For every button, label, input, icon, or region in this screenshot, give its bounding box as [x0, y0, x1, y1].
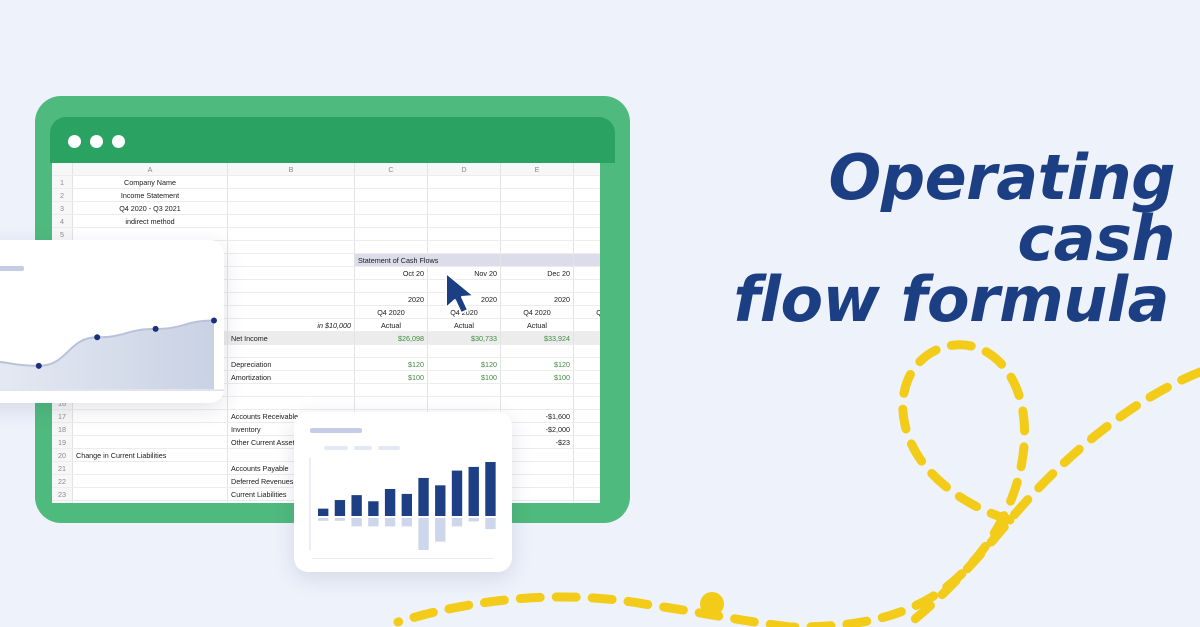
page-title-line-1: Operating cash — [655, 148, 1175, 270]
cell-F24[interactable] — [574, 501, 601, 504]
cell-E15[interactable] — [501, 384, 574, 397]
spreadsheet-row[interactable]: 3Q4 2020 - Q3 2021 — [52, 202, 600, 215]
legend-placeholder-3 — [378, 446, 400, 450]
cell-C5[interactable] — [355, 228, 428, 241]
cell-F4[interactable] — [574, 215, 601, 228]
bar-secondary-0 — [318, 518, 328, 521]
bar-secondary-7 — [435, 518, 445, 542]
cell-month-3[interactable]: Jan 21 — [574, 267, 601, 280]
column-header-c[interactable]: C — [355, 163, 428, 176]
cell-C16[interactable] — [355, 397, 428, 410]
cell-E1[interactable] — [501, 176, 574, 189]
cell-F11[interactable]: $37,141 — [574, 332, 601, 345]
cell-section-title[interactable]: Statement of Cash Flows — [355, 254, 428, 267]
cell-C3[interactable] — [355, 202, 428, 215]
column-header-corner[interactable] — [52, 163, 73, 176]
cell-E17[interactable]: -$1,600 — [501, 410, 574, 423]
row-header-2[interactable]: 2 — [52, 189, 73, 202]
cell-F19[interactable]: -$25 — [574, 436, 601, 449]
cell-C4[interactable] — [355, 215, 428, 228]
legend-placeholder-2 — [354, 446, 372, 450]
cell-D7[interactable] — [428, 254, 501, 267]
cell-C1[interactable] — [355, 176, 428, 189]
cell-E16[interactable] — [501, 397, 574, 410]
cell-D6[interactable] — [428, 241, 501, 254]
cell-F12[interactable] — [574, 345, 601, 358]
cell-D14[interactable]: $100 — [428, 371, 501, 384]
chart-title-placeholder — [0, 266, 24, 271]
chart-baseline — [0, 390, 224, 391]
row-header-3[interactable]: 3 — [52, 202, 73, 215]
bar-secondary-9 — [469, 518, 479, 521]
column-header-d[interactable]: D — [428, 163, 501, 176]
cell-month-2[interactable]: Dec 20 — [501, 267, 574, 280]
bar-primary-3 — [368, 501, 378, 516]
cell-F20[interactable] — [574, 449, 601, 462]
window-dot-yellow[interactable] — [90, 135, 103, 148]
cell-F5[interactable] — [574, 228, 601, 241]
cell-F13[interactable]: $120 — [574, 358, 601, 371]
cell-F7[interactable] — [574, 254, 601, 267]
bar-primary-0 — [318, 509, 328, 516]
cell-year-2[interactable]: 2020 — [501, 293, 574, 306]
line-chart-card[interactable] — [0, 240, 224, 403]
column-header-a[interactable]: A — [73, 163, 228, 176]
row-header-19[interactable]: 19 — [52, 436, 73, 449]
bar-chart — [304, 454, 504, 554]
bar-primary-10 — [485, 462, 495, 516]
bar-secondary-5 — [402, 518, 412, 526]
cell-B11[interactable]: Net Income — [228, 332, 355, 345]
cell-basis-D[interactable]: Actual — [428, 319, 501, 332]
cell-basis-C[interactable]: Actual — [355, 319, 428, 332]
cell-C6[interactable] — [355, 241, 428, 254]
cell-A3[interactable]: Q4 2020 - Q3 2021 — [73, 202, 228, 215]
row-header-24[interactable]: 24 — [52, 501, 73, 504]
row-header-4[interactable]: 4 — [52, 215, 73, 228]
cell-quarter-C[interactable]: Q4 2020 — [355, 306, 428, 319]
column-header-row[interactable]: ABCDEFG — [52, 163, 600, 176]
cell-E5[interactable] — [501, 228, 574, 241]
cell-units-label[interactable]: in $10,000 — [228, 319, 355, 332]
bar-primary-2 — [351, 495, 361, 516]
cell-quarter-E[interactable]: Q4 2020 — [501, 306, 574, 319]
bar-secondary-3 — [368, 518, 378, 526]
column-header-b[interactable]: B — [228, 163, 355, 176]
cell-F2[interactable] — [574, 189, 601, 202]
data-point-2 — [36, 363, 42, 369]
bar-secondary-1 — [335, 518, 345, 521]
row-header-1[interactable]: 1 — [52, 176, 73, 189]
data-point-4 — [153, 326, 159, 332]
cell-month-0[interactable]: Oct 20 — [355, 267, 428, 280]
cell-B9[interactable] — [228, 280, 355, 293]
cell-F15[interactable] — [574, 384, 601, 397]
cell-A5[interactable] — [73, 228, 228, 241]
cell-quarter-B[interactable] — [228, 306, 355, 319]
bar-primary-5 — [402, 494, 412, 516]
cell-basis-E[interactable]: Actual — [501, 319, 574, 332]
cell-D13[interactable]: $120 — [428, 358, 501, 371]
spreadsheet-row[interactable]: 5 — [52, 228, 600, 241]
cell-D4[interactable] — [428, 215, 501, 228]
page-title-line-2: flow formula — [655, 270, 1175, 331]
cell-B1[interactable] — [228, 176, 355, 189]
cell-D11[interactable]: $30,733 — [428, 332, 501, 345]
cell-C13[interactable]: $120 — [355, 358, 428, 371]
cell-A2[interactable]: Income Statement — [73, 189, 228, 202]
cell-F16[interactable] — [574, 397, 601, 410]
cell-E14[interactable]: $100 — [501, 371, 574, 384]
cell-D5[interactable] — [428, 228, 501, 241]
bar-secondary-8 — [452, 518, 462, 526]
cell-B6[interactable] — [228, 241, 355, 254]
cell-D1[interactable] — [428, 176, 501, 189]
cell-A21[interactable] — [73, 462, 228, 475]
bar-primary-7 — [435, 485, 445, 516]
area-fill — [0, 320, 214, 390]
cell-B7[interactable] — [228, 254, 355, 267]
cell-C14[interactable]: $100 — [355, 371, 428, 384]
cell-F17[interactable]: $5,200 — [574, 410, 601, 423]
legend-placeholder-1 — [324, 446, 348, 450]
cell-F23[interactable]: $208 — [574, 488, 601, 501]
cell-D2[interactable] — [428, 189, 501, 202]
cell-A17[interactable] — [73, 410, 228, 423]
bar-primary-9 — [469, 467, 479, 516]
bar-chart-card[interactable] — [294, 412, 512, 572]
cell-A4[interactable]: indirect method — [73, 215, 228, 228]
cell-B12[interactable] — [228, 345, 355, 358]
cell-E3[interactable] — [501, 202, 574, 215]
cell-F18[interactable]: -$1,500 — [574, 423, 601, 436]
cell-B3[interactable] — [228, 202, 355, 215]
cell-E4[interactable] — [501, 215, 574, 228]
cell-year-0[interactable]: 2020 — [355, 293, 428, 306]
bar-secondary-4 — [385, 518, 395, 526]
cell-F21[interactable]: $1,346 — [574, 462, 601, 475]
bar-primary-8 — [452, 471, 462, 516]
cell-B10[interactable] — [228, 293, 355, 306]
spreadsheet-row[interactable]: 2Income Statement — [52, 189, 600, 202]
cell-E9[interactable] — [501, 280, 574, 293]
page-title: Operating cash flow formula — [655, 148, 1175, 330]
cell-D3[interactable] — [428, 202, 501, 215]
cell-F3[interactable] — [574, 202, 601, 215]
cell-A20[interactable]: Change in Current Liabilities — [73, 449, 228, 462]
mouse-pointer-icon — [444, 272, 478, 316]
bar-secondary-2 — [351, 518, 361, 526]
data-point-3 — [94, 334, 100, 340]
cell-E12[interactable] — [501, 345, 574, 358]
row-header-21[interactable]: 21 — [52, 462, 73, 475]
cell-F22[interactable]: $0 — [574, 475, 601, 488]
row-header-17[interactable]: 17 — [52, 410, 73, 423]
row-header-18[interactable]: 18 — [52, 423, 73, 436]
bar-primary-4 — [385, 489, 395, 516]
cell-E11[interactable]: $33,924 — [501, 332, 574, 345]
cell-C2[interactable] — [355, 189, 428, 202]
cell-B5[interactable] — [228, 228, 355, 241]
bar-secondary-6 — [418, 518, 428, 550]
cell-E7[interactable] — [501, 254, 574, 267]
chart-baseline — [312, 558, 494, 559]
column-header-f[interactable]: F — [574, 163, 601, 176]
cell-B4[interactable] — [228, 215, 355, 228]
cell-B15[interactable] — [228, 384, 355, 397]
cell-C11[interactable]: $26,098 — [355, 332, 428, 345]
cell-D16[interactable] — [428, 397, 501, 410]
window-dot-red[interactable] — [68, 135, 81, 148]
cell-C9[interactable] — [355, 280, 428, 293]
cell-A23[interactable] — [73, 488, 228, 501]
cell-A1[interactable]: Company Name — [73, 176, 228, 189]
cell-C15[interactable] — [355, 384, 428, 397]
cell-A18[interactable] — [73, 423, 228, 436]
cell-B14[interactable]: Amortization — [228, 371, 355, 384]
cell-F6[interactable] — [574, 241, 601, 254]
browser-title-bar — [50, 117, 615, 163]
cell-B2[interactable] — [228, 189, 355, 202]
cell-C12[interactable] — [355, 345, 428, 358]
spreadsheet-row[interactable]: 4indirect method — [52, 215, 600, 228]
cell-basis-F[interactable]: Actual — [574, 319, 601, 332]
cell-D12[interactable] — [428, 345, 501, 358]
cell-B8[interactable] — [228, 267, 355, 280]
cell-year-3[interactable]: 2021 — [574, 293, 601, 306]
cell-B16[interactable] — [228, 397, 355, 410]
spreadsheet-row[interactable]: 1Company Name — [52, 176, 600, 189]
bar-primary-6 — [418, 478, 428, 516]
cell-F14[interactable]: $100 — [574, 371, 601, 384]
bar-secondary-10 — [485, 518, 495, 529]
cell-E13[interactable]: $120 — [501, 358, 574, 371]
column-header-e[interactable]: E — [501, 163, 574, 176]
cell-E2[interactable] — [501, 189, 574, 202]
bar-primary-1 — [335, 500, 345, 516]
cell-quarter-F[interactable]: Q1 2021 — [574, 306, 601, 319]
cell-E6[interactable] — [501, 241, 574, 254]
row-header-5[interactable]: 5 — [52, 228, 73, 241]
cell-A19[interactable] — [73, 436, 228, 449]
cell-F1[interactable] — [574, 176, 601, 189]
cell-D15[interactable] — [428, 384, 501, 397]
data-point-5 — [211, 317, 217, 323]
row-header-23[interactable]: 23 — [52, 488, 73, 501]
chart-title-placeholder — [310, 428, 362, 433]
cell-A22[interactable] — [73, 475, 228, 488]
row-header-22[interactable]: 22 — [52, 475, 73, 488]
line-area-chart — [0, 282, 224, 394]
cell-B13[interactable]: Depreciation — [228, 358, 355, 371]
cell-F9[interactable] — [574, 280, 601, 293]
row-header-20[interactable]: 20 — [52, 449, 73, 462]
window-dot-green[interactable] — [112, 135, 125, 148]
cell-A24[interactable] — [73, 501, 228, 504]
